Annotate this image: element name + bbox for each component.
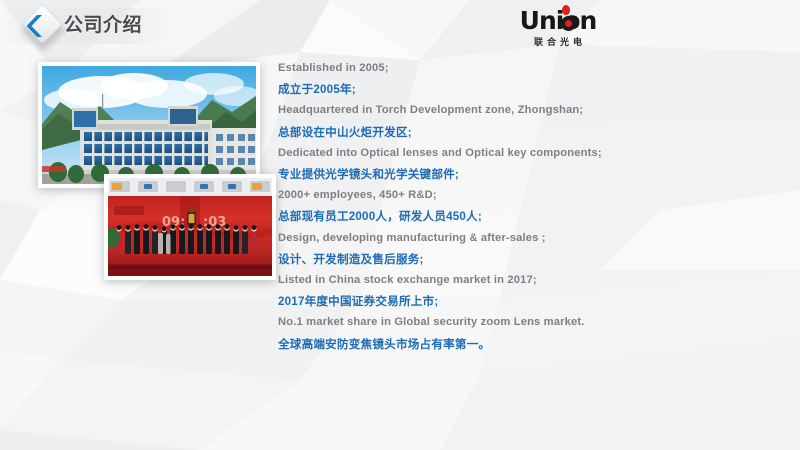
text-line: Dedicated into Optical lenses and Optica… <box>278 143 778 164</box>
text-line: 2000+ employees, 450+ R&D; <box>278 185 778 206</box>
company-description-text-block: Established in 2005; 成立于2005年; Headquart… <box>278 58 778 355</box>
text-line: Headquartered in Torch Development zone,… <box>278 100 778 121</box>
text-line: 总部现有员工2000人，研发人员450人; <box>278 206 778 227</box>
text-line: 总部设在中山火炬开发区; <box>278 122 778 143</box>
text-line: 成立于2005年; <box>278 79 778 100</box>
text-line: 设计、开发制造及售后服务; <box>278 249 778 270</box>
slide-canvas: 公司介绍 Union 联合光电 <box>0 0 800 450</box>
text-line: Established in 2005; <box>278 58 778 79</box>
logo-wordmark-text: Union <box>520 6 597 35</box>
text-line: Listed in China stock exchange market in… <box>278 270 778 291</box>
logo-red-dot-icon <box>562 5 570 15</box>
text-line: No.1 market share in Global security zoo… <box>278 312 778 333</box>
slide-header: 公司介绍 Union 联合光电 <box>0 0 800 52</box>
text-line: 2017年度中国证券交易所上市; <box>278 291 778 312</box>
listing-ceremony-illustration: 09: :03 <box>108 178 272 276</box>
logo-wordmark: Union <box>508 8 608 33</box>
headquarters-building-illustration <box>42 66 256 184</box>
text-line: 专业提供光学镜头和光学关键部件; <box>278 164 778 185</box>
logo-lens-circle-icon <box>561 16 576 31</box>
company-logo: Union 联合光电 <box>508 8 608 46</box>
text-line: 全球高端安防变焦镜头市场占有率第一。 <box>278 334 778 355</box>
company-headquarters-building-photo <box>38 62 260 188</box>
page-title: 公司介绍 <box>64 12 142 40</box>
chevron-left-diamond-icon <box>26 10 58 42</box>
stock-listing-ceremony-photo: 09: :03 <box>104 174 276 280</box>
text-line: Design, developing manufacturing & after… <box>278 228 778 249</box>
logo-chinese-name: 联合光电 <box>508 35 608 48</box>
